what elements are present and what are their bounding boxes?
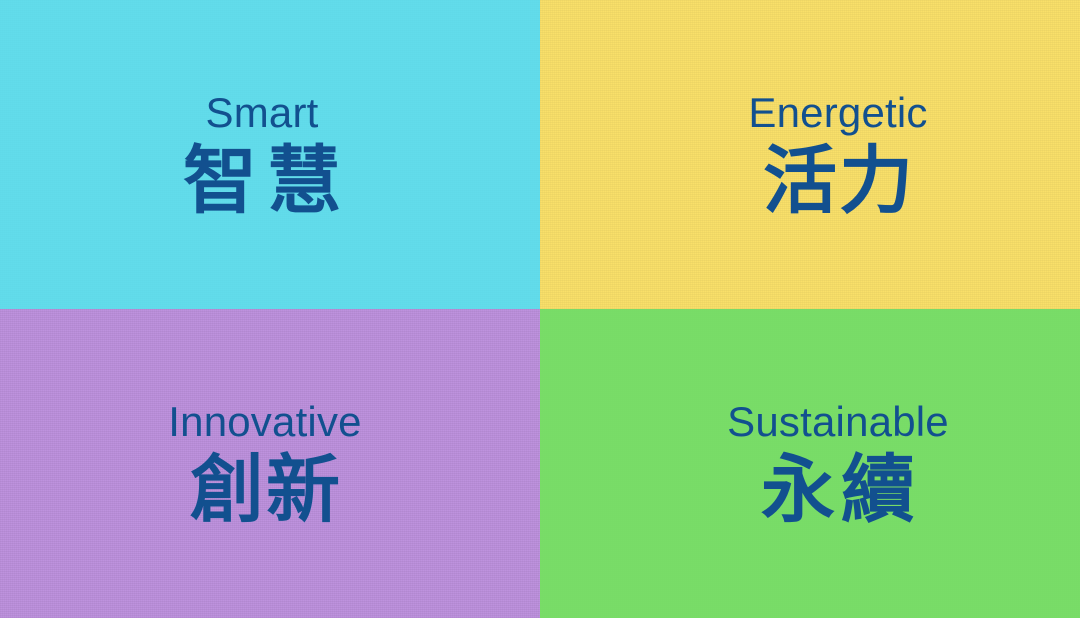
brand-values-grid: Smart 智慧 Energetic 活力 Innovative 創新 Sust… [0,0,1080,618]
label-chinese-energetic: 活力 [761,144,915,218]
quadrant-energetic[interactable]: Energetic 活力 [540,0,1080,309]
label-stack-energetic: Energetic 活力 [748,92,927,218]
quadrant-sustainable[interactable]: Sustainable 永續 [540,309,1080,618]
label-stack-smart: Smart 智慧 [173,92,351,218]
label-english-smart: Smart [205,92,318,134]
quadrant-smart[interactable]: Smart 智慧 [0,0,540,309]
label-stack-sustainable: Sustainable 永續 [727,401,949,527]
label-chinese-smart: 智慧 [173,144,351,218]
label-english-innovative: Innovative [168,401,361,443]
quadrant-innovative[interactable]: Innovative 創新 [0,309,540,618]
label-chinese-sustainable: 永續 [755,453,921,527]
label-english-energetic: Energetic [748,92,927,134]
label-chinese-innovative: 創新 [188,453,342,527]
label-stack-innovative: Innovative 創新 [168,401,361,527]
label-english-sustainable: Sustainable [727,401,949,443]
